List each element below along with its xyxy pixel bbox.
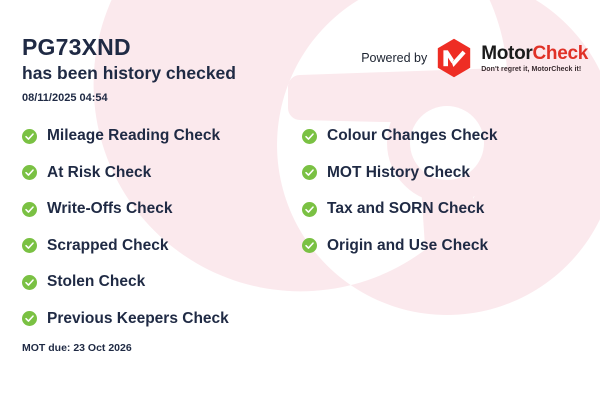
motorcheck-wordmark: MotorCheck Don't regret it, MotorCheck i… <box>481 44 588 73</box>
list-item-label: Mileage Reading Check <box>47 127 220 145</box>
vehicle-history-check-card: PG73XND has been history checked 08/11/2… <box>0 0 600 400</box>
wordmark-check: Check <box>532 43 588 64</box>
checks-column-left: Mileage Reading Check At Risk Check Writ… <box>22 118 302 337</box>
powered-by-motorcheck-logo: Powered by MotorCheck Don't regret it, M… <box>361 38 588 78</box>
check-timestamp: 08/11/2025 04:54 <box>22 92 352 104</box>
list-item-label: Scrapped Check <box>47 237 168 255</box>
header: PG73XND has been history checked 08/11/2… <box>22 34 352 104</box>
wordmark-motor: Motor <box>481 43 532 64</box>
list-item-label: Colour Changes Check <box>327 127 498 145</box>
page-title: has been history checked <box>22 63 352 84</box>
list-item: At Risk Check <box>22 155 302 192</box>
list-item: MOT History Check <box>302 155 582 192</box>
list-item: Previous Keepers Check <box>22 301 302 338</box>
list-item-label: Tax and SORN Check <box>327 200 484 218</box>
registration-plate: PG73XND <box>22 34 352 60</box>
list-item: Mileage Reading Check <box>22 118 302 155</box>
check-circle-icon <box>302 129 317 144</box>
check-circle-icon <box>302 165 317 180</box>
list-item: Origin and Use Check <box>302 228 582 265</box>
motorcheck-hexagon-icon <box>436 38 472 78</box>
list-item-label: Write-Offs Check <box>47 200 172 218</box>
check-circle-icon <box>302 238 317 253</box>
list-item-label: MOT History Check <box>327 164 470 182</box>
list-item: Write-Offs Check <box>22 191 302 228</box>
brand-tagline: Don't regret it, MotorCheck it! <box>481 66 588 73</box>
list-item-label: At Risk Check <box>47 164 151 182</box>
check-circle-icon <box>22 238 37 253</box>
mot-due-label: MOT due: 23 Oct 2026 <box>22 342 132 354</box>
list-item-label: Stolen Check <box>47 273 145 291</box>
motorcheck-name: MotorCheck <box>481 44 588 63</box>
list-item: Stolen Check <box>22 264 302 301</box>
list-item: Colour Changes Check <box>302 118 582 155</box>
check-circle-icon <box>22 165 37 180</box>
list-item-label: Previous Keepers Check <box>47 310 229 328</box>
check-circle-icon <box>22 311 37 326</box>
powered-by-label: Powered by <box>361 51 427 65</box>
check-circle-icon <box>22 129 37 144</box>
list-item: Tax and SORN Check <box>302 191 582 228</box>
check-circle-icon <box>302 202 317 217</box>
list-item-label: Origin and Use Check <box>327 237 488 255</box>
list-item: Scrapped Check <box>22 228 302 265</box>
check-circle-icon <box>22 275 37 290</box>
checks-list: Mileage Reading Check At Risk Check Writ… <box>22 118 582 337</box>
check-circle-icon <box>22 202 37 217</box>
checks-column-right: Colour Changes Check MOT History Check T… <box>302 118 582 337</box>
